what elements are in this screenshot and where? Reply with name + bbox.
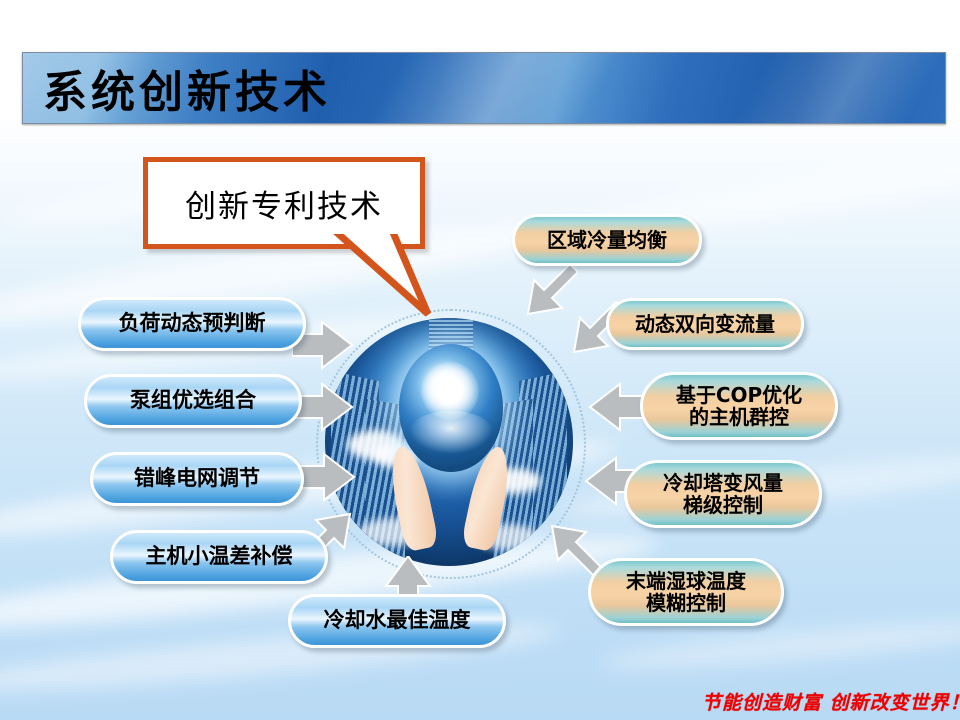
- footer-slogan: 节能创造财富 创新改变世界！: [702, 688, 960, 715]
- node-right-5[interactable]: 末端湿球温度 模糊控制: [588, 558, 784, 626]
- node-right-2-label: 动态双向变流量: [635, 313, 775, 335]
- node-left-3-label: 错峰电网调节: [134, 467, 260, 491]
- node-left-2[interactable]: 泵组优选组合: [84, 374, 302, 428]
- node-right-3[interactable]: 基于COP优化 的主机群控: [640, 372, 838, 440]
- callout-pointer-icon: [330, 230, 440, 320]
- node-left-1-label: 负荷动态预判断: [119, 312, 266, 336]
- page-title: 系统创新技术: [43, 56, 331, 120]
- slide-canvas: 系统创新技术 创新专利技术: [0, 0, 960, 720]
- node-left-3[interactable]: 错峰电网调节: [90, 452, 304, 506]
- node-right-1[interactable]: 区域冷量均衡: [512, 214, 702, 266]
- node-right-2[interactable]: 动态双向变流量: [606, 298, 804, 350]
- node-left-5[interactable]: 冷却水最佳温度: [288, 594, 506, 648]
- node-right-1-label: 区域冷量均衡: [547, 229, 667, 251]
- node-right-3-label: 基于COP优化 的主机群控: [676, 384, 802, 429]
- node-right-4[interactable]: 冷却塔变风量 梯级控制: [624, 460, 822, 528]
- node-left-1[interactable]: 负荷动态预判断: [78, 297, 306, 351]
- node-left-4[interactable]: 主机小温差补偿: [110, 530, 328, 584]
- sun-glow-icon: [421, 362, 479, 420]
- node-left-5-label: 冷却水最佳温度: [324, 609, 471, 633]
- node-left-2-label: 泵组优选组合: [130, 389, 256, 413]
- arrow-down-left-icon: [522, 262, 578, 318]
- node-left-4-label: 主机小温差补偿: [146, 545, 293, 569]
- node-right-5-label: 末端湿球温度 模糊控制: [626, 570, 746, 615]
- slide-title-bar: 系统创新技术: [22, 52, 946, 124]
- node-right-4-label: 冷却塔变风量 梯级控制: [663, 472, 783, 517]
- center-globe-image: [325, 318, 573, 566]
